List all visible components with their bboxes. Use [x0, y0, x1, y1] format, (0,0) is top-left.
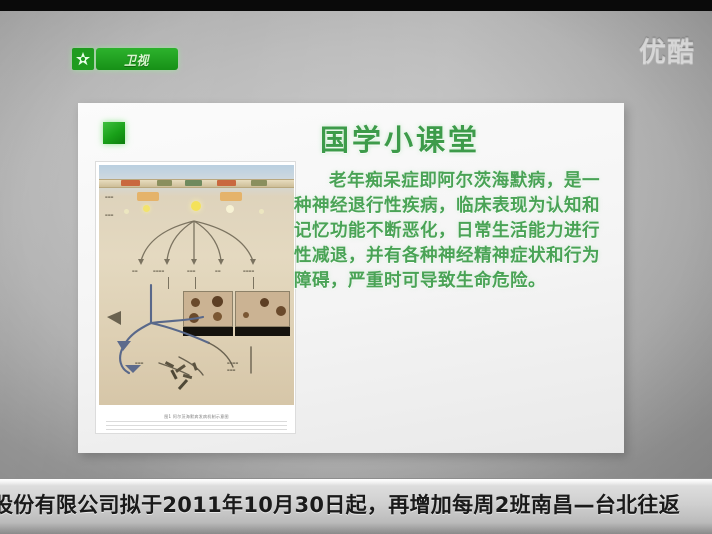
news-ticker-bar: 股份有限公司拟于2011年10月30日起，再增加每周2班南昌—台北往返 [0, 478, 712, 534]
diagram-label: ▬▬▬ [187, 269, 196, 273]
diagram-chip [185, 180, 202, 186]
youku-watermark: 优酷 [639, 30, 695, 69]
diagram-complex [137, 192, 159, 201]
diagram-chip [157, 180, 172, 186]
station-logo-mark-icon [72, 48, 94, 70]
diagram-dot [191, 201, 201, 211]
diagram-label: ▬▬▬ [227, 368, 236, 372]
station-logo: 卫视 [72, 48, 178, 70]
slide-body-text: 老年痴呆症即阿尔茨海默病，是一种神经退行性疾病，临床表现为认知和记忆功能不断恶化… [294, 169, 600, 294]
diagram-label: ▬▬▬ [105, 195, 114, 199]
diagram-label: ▬▬▬ [135, 361, 144, 365]
diagram-label: ▬▬ [132, 269, 138, 273]
ticker-highlight [0, 479, 712, 486]
station-logo-wordmark-text: 卫视 [125, 50, 150, 69]
alzheimer-pathway-diagram: ▬▬▬ ▬▬▬ [95, 161, 296, 434]
diagram-dot [124, 209, 129, 214]
diagram-chip [217, 180, 236, 186]
diagram-chip [251, 180, 267, 186]
diagram-label: ▬▬▬▬ [243, 269, 254, 273]
diagram-label: ▬▬ [215, 269, 221, 273]
diagram-dot [143, 205, 150, 212]
diagram-label: ▬▬▬▬ [227, 361, 238, 365]
diagram-chip [121, 180, 140, 186]
station-logo-wordmark: 卫视 [96, 48, 178, 70]
diagram-canvas: ▬▬▬ ▬▬▬ [99, 165, 294, 405]
diagram-arrow-fan [99, 217, 294, 272]
diagram-neuron [99, 277, 294, 389]
top-letterbox [0, 0, 712, 11]
slide-card: 国学小课堂 ▬▬▬ ▬▬▬ [78, 103, 624, 453]
slide-title: 国学小课堂 [320, 117, 610, 159]
ticker-shadow [0, 523, 712, 534]
diagram-dot [259, 209, 264, 214]
diagram-dot [226, 205, 234, 213]
diagram-caption-body [106, 421, 287, 430]
diagram-label: ▬▬▬▬ [153, 269, 164, 273]
broadcast-screen: 卫视 优酷 国学小课堂 [0, 0, 712, 534]
green-square-bullet-icon [103, 122, 125, 144]
news-ticker-text: 股份有限公司拟于2011年10月30日起，再增加每周2班南昌—台北往返 [0, 489, 680, 519]
diagram-complex [220, 192, 242, 201]
